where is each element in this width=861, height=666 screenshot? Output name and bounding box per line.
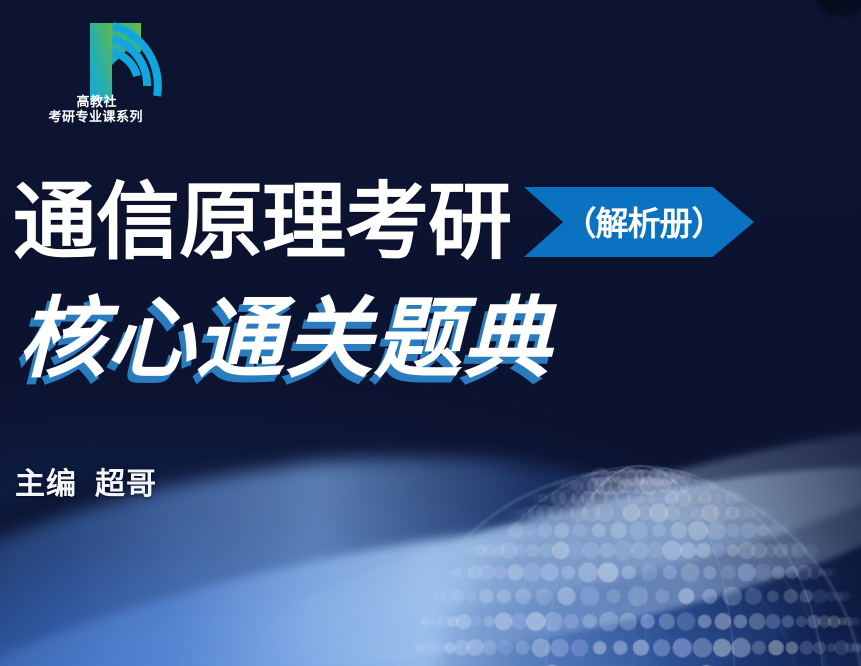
edition-banner-label: （解析册） [555,197,724,247]
globe-arc [395,470,861,666]
title-row: 通信原理考研 （解析册） [0,176,861,268]
book-cover: 高教社 考研专业课系列 通信原理考研 （解析册） 核心通关题典 主编超哥 [0,0,861,666]
light-streak-ribbons-icon [0,592,627,666]
publisher-logo: 高教社 考研专业课系列 [18,22,168,112]
dark-wedge-shadow [194,450,465,586]
page-subtitle: 核心通关题典 [18,287,552,391]
author-name: 超哥 [95,467,157,502]
edition-banner: （解析册） [524,187,754,257]
page-title: 通信原理考研 [13,176,511,268]
light-streak-ribbons-icon [0,402,740,666]
author-role: 主编 [15,467,77,502]
publisher-logo-text: 高教社 考研专业课系列 [18,96,143,125]
corner-circle-notch-icon [814,0,861,16]
light-streak-ribbons-icon [0,540,808,666]
globe-glow [430,500,860,666]
publisher-name: 高教社 [18,96,143,111]
series-name: 考研专业课系列 [18,111,143,126]
globe-arc [470,540,800,666]
dotted-globe-network-icon [405,455,861,666]
globe-arc [430,505,830,666]
light-streak-ribbons-icon [245,428,861,666]
author-line: 主编超哥 [15,459,157,503]
light-streak-ribbons-icon [359,395,861,642]
